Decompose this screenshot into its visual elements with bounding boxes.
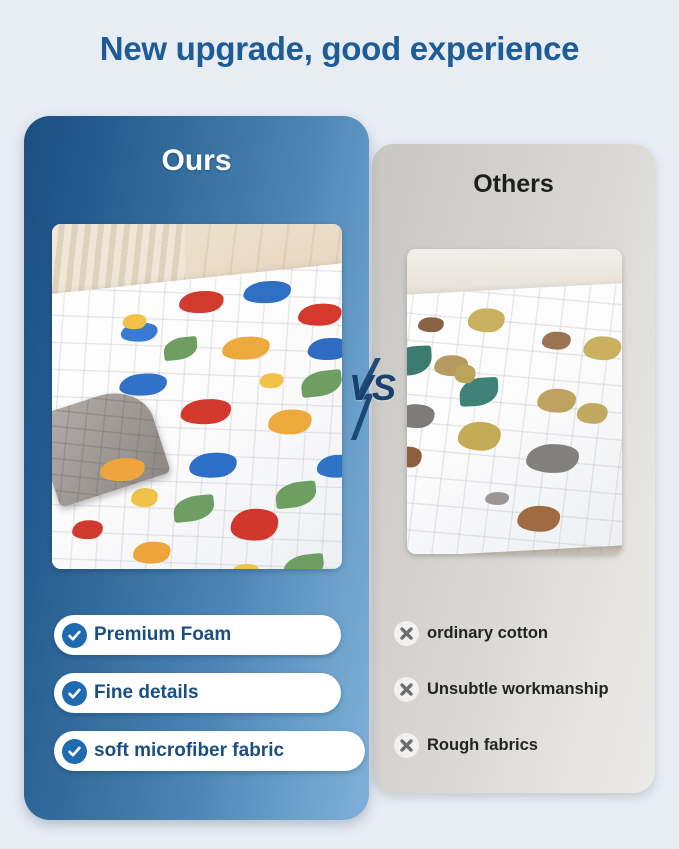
sun-motif <box>231 563 260 569</box>
x-circle-icon <box>394 621 419 646</box>
leaf-motif <box>454 364 477 383</box>
check-circle-icon <box>62 681 87 706</box>
con-item-label: Rough fabrics <box>427 736 538 755</box>
con-item-label: Unsubtle workmanship <box>427 680 609 699</box>
others-comparison-panel: Others ordinary cott <box>372 144 655 793</box>
con-item-label: ordinary cotton <box>427 624 548 643</box>
animal-motif <box>541 330 571 350</box>
feature-pill-label: Fine details <box>94 682 199 704</box>
sun-motif <box>130 487 159 509</box>
dino-motif <box>296 302 342 329</box>
check-circle-icon <box>62 623 87 648</box>
dino-motif <box>188 450 238 480</box>
others-quilted-mat <box>407 283 622 554</box>
ours-product-photo <box>52 224 342 569</box>
ours-comparison-panel: Ours <box>24 116 369 820</box>
animal-motif <box>537 388 577 414</box>
page-title: New upgrade, good experience <box>0 30 679 68</box>
dino-motif <box>307 336 342 362</box>
others-panel-title: Others <box>372 170 655 199</box>
dino-motif <box>179 396 233 427</box>
animal-motif <box>468 307 505 332</box>
check-circle-icon <box>62 739 87 764</box>
object-motif <box>525 443 579 475</box>
feature-pill-label: soft microfiber fabric <box>94 740 284 762</box>
dino-motif <box>316 453 342 479</box>
feature-pill-2: soft microfiber fabric <box>54 731 365 771</box>
sun-motif <box>259 372 284 390</box>
feature-pill-0: Premium Foam <box>54 615 341 655</box>
feature-pill-label: Premium Foam <box>94 624 231 646</box>
dino-motif <box>132 540 172 566</box>
ours-quilted-mat <box>52 262 342 569</box>
object-motif <box>407 403 435 429</box>
x-circle-icon <box>394 733 419 758</box>
dino-motif <box>221 335 271 362</box>
animal-motif <box>407 446 423 468</box>
leaf-motif <box>457 421 502 452</box>
animal-motif <box>517 504 562 532</box>
feature-pill-1: Fine details <box>54 673 341 713</box>
ours-panel-title: Ours <box>24 144 369 178</box>
dino-motif <box>178 289 225 316</box>
leaf-motif <box>576 402 608 425</box>
palm-motif <box>172 494 215 524</box>
con-item-1: Unsubtle workmanship <box>394 674 609 704</box>
object-motif <box>485 491 510 505</box>
dino-motif <box>266 407 313 437</box>
palm-motif <box>274 480 317 510</box>
dino-motif <box>242 278 292 305</box>
others-product-photo <box>407 249 622 554</box>
animal-motif <box>417 316 444 333</box>
dino-motif <box>228 506 279 543</box>
palm-motif <box>281 553 324 569</box>
con-item-0: ordinary cotton <box>394 618 548 648</box>
dino-motif <box>71 518 104 540</box>
palm-motif <box>162 336 198 362</box>
tree-motif <box>407 345 433 376</box>
animal-motif <box>583 335 622 361</box>
palm-motif <box>300 369 342 399</box>
x-circle-icon <box>394 677 419 702</box>
con-item-2: Rough fabrics <box>394 730 538 760</box>
